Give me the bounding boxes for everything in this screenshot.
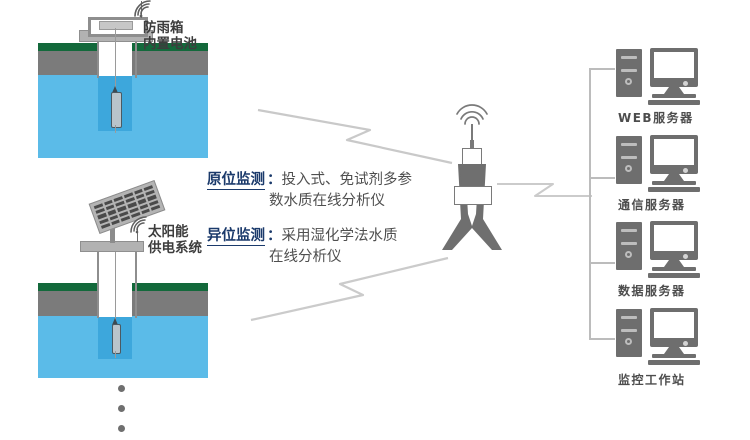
probe-tail-top [115,125,116,133]
server-slot [621,69,637,72]
description-in-situ-lead: 原位监测 [207,172,265,190]
description-ex-situ-colon: ： [267,228,282,244]
annotation-rain-box-line2: 内置电池 [143,36,197,52]
monitor-base [652,267,696,271]
keyboard-icon [648,360,700,365]
keyboard-icon [648,273,700,278]
description-in-situ-body2: 数水质在线分析仪 [269,193,385,209]
well-illustration-bottom [38,268,208,378]
annotation-solar-line1: 太阳能 [148,224,202,240]
monitor-led [683,341,688,346]
description-ex-situ-line2: 在线分析仪 [207,247,398,268]
power-button-icon [625,251,632,258]
ellipsis-dot [118,405,125,412]
node-label-monitor-workstation: 监控工作站 [618,371,686,388]
monitor-screen [654,52,694,78]
power-button-icon [625,338,632,345]
well-casing-bottom [97,248,137,318]
node-label-comm-server: 通信服务器 [618,196,686,213]
sensor-cable-top [115,28,116,88]
server-slot [621,242,637,245]
monitor-led [683,81,688,86]
monitor-screen [654,225,694,251]
annotation-rain-box-line1: 防雨箱 [143,20,197,36]
tower-platform [454,186,492,205]
description-in-situ-body1: 投入式、免试剂多参 [282,172,413,188]
annotation-solar-system: 太阳能 供电系统 [148,224,202,256]
wireless-link-upper [255,95,455,170]
server-slot [621,229,637,232]
node-comm-server[interactable]: 通信服务器 [612,132,722,207]
server-slot [621,156,637,159]
monitor-base [652,94,696,98]
monitor-screen [654,139,694,165]
ellipsis-dot [118,385,125,392]
description-ex-situ-line1: 异位监测：采用湿化学法水质 [207,226,398,247]
node-data-server[interactable]: 数据服务器 [612,218,722,293]
keyboard-icon [648,100,700,105]
tower-base [444,248,500,250]
description-in-situ-line2: 数水质在线分析仪 [207,191,412,212]
monitor-neck [664,174,684,181]
monitor-neck [664,87,684,94]
monitor-screen [654,312,694,338]
probe-tail-bottom [115,351,116,358]
node-label-web-server: WEB服务器 [618,109,694,126]
server-slot [621,56,637,59]
description-ex-situ-body1: 采用湿化学法水质 [282,228,398,244]
server-slot [621,143,637,146]
monitor-neck [664,347,684,354]
sensor-cable-bottom [115,250,116,321]
rainproof-box-battery [99,21,133,30]
description-ex-situ-body2: 在线分析仪 [269,249,342,265]
node-label-data-server: 数据服务器 [618,282,686,299]
water-quality-probe-bottom [112,324,121,354]
ellipsis-dot [118,425,125,432]
monitor-neck [664,260,684,267]
well-casing-top [97,38,137,78]
node-web-server[interactable]: WEB服务器 [612,45,722,120]
server-slot [621,329,637,332]
antenna-signal-top [132,0,156,20]
diagram-canvas: 防雨箱 内置电池 [0,0,750,440]
server-slot [621,316,637,319]
power-button-icon [625,165,632,172]
keyboard-icon [648,187,700,192]
description-in-situ-line1: 原位监测：投入式、免试剂多参 [207,170,412,191]
description-in-situ: 原位监测：投入式、免试剂多参 数水质在线分析仪 [207,170,412,212]
description-ex-situ: 异位监测：采用湿化学法水质 在线分析仪 [207,226,398,268]
tower-body [440,164,504,250]
monitor-led [683,168,688,173]
description-in-situ-colon: ： [267,172,282,188]
wireless-link-uplink [495,178,595,208]
power-button-icon [625,78,632,85]
monitor-base [652,354,696,358]
annotation-solar-line2: 供电系统 [148,240,202,256]
node-monitor-workstation[interactable]: 监控工作站 [612,305,722,383]
bus-vertical-line [589,68,591,339]
monitor-led [683,254,688,259]
description-ex-situ-lead: 异位监测 [207,228,265,246]
monitor-base [652,181,696,185]
water-quality-probe-top [111,92,122,128]
annotation-rain-box: 防雨箱 内置电池 [143,20,197,52]
